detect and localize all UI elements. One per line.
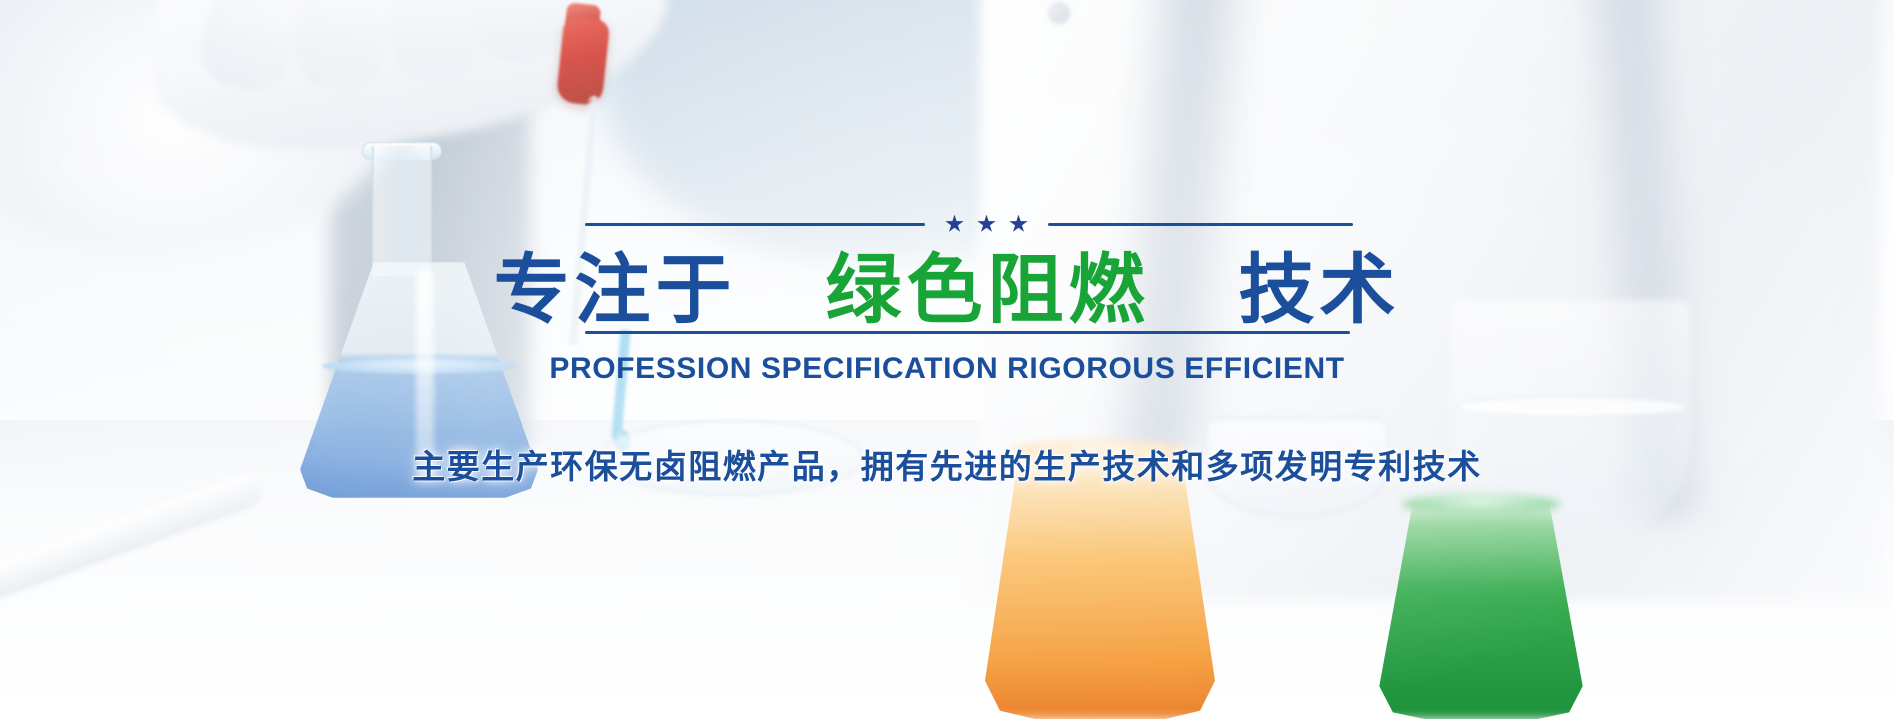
star-group — [925, 215, 1048, 234]
headline-part-3: 技术 — [1238, 245, 1400, 334]
divider-line-left — [585, 223, 925, 226]
star-icon — [977, 215, 996, 234]
divider-line-right — [1048, 223, 1353, 226]
decorative-divider-bottom — [585, 331, 1350, 334]
star-icon — [1009, 215, 1028, 234]
decorative-divider-top — [585, 215, 1350, 233]
banner-content: 专注于 绿色阻燃 技术 PROFESSION SPECIFICATION RIG… — [0, 0, 1894, 719]
page-title: 专注于 绿色阻燃 技术 — [0, 247, 1894, 332]
subtitle-english: PROFESSION SPECIFICATION RIGOROUS EFFICI… — [0, 352, 1894, 386]
star-icon — [945, 215, 964, 234]
hero-banner: 专注于 绿色阻燃 技术 PROFESSION SPECIFICATION RIG… — [0, 0, 1894, 719]
headline-part-2: 绿色阻燃 — [826, 245, 1150, 334]
headline-part-1: 专注于 — [494, 245, 737, 334]
tagline-chinese: 主要生产环保无卤阻燃产品，拥有先进的生产技术和多项发明专利技术 — [0, 440, 1894, 488]
